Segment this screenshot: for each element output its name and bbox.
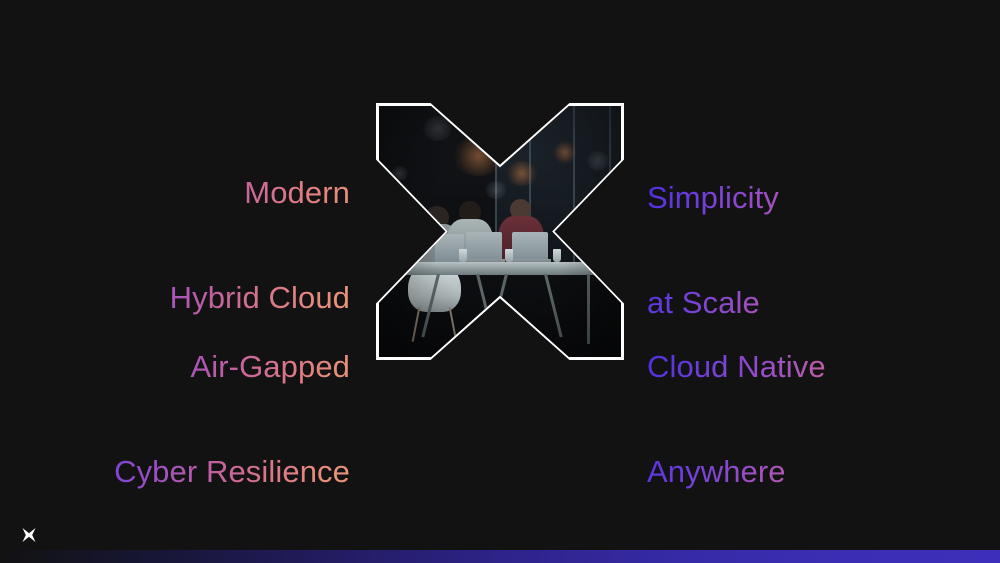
x-mark-photo-frame bbox=[376, 103, 624, 360]
close-button[interactable] bbox=[18, 524, 40, 546]
headline-cloud-native-anywhere: Cloud Native Anywhere bbox=[647, 279, 967, 559]
headline-line-2: Anywhere bbox=[647, 454, 967, 489]
photo-vignette bbox=[379, 106, 621, 357]
headline-line-1: Air-Gapped bbox=[60, 349, 350, 384]
headline-line-2: Cyber Resilience bbox=[60, 454, 350, 489]
headline-line-1: Simplicity bbox=[647, 180, 947, 215]
headline-line-1: Cloud Native bbox=[647, 349, 967, 384]
slide-canvas: Modern Hybrid Cloud Simplicity at Scale … bbox=[0, 0, 1000, 563]
close-icon bbox=[18, 524, 40, 546]
progress-accent-bar[interactable] bbox=[0, 550, 1000, 563]
headline-line-1: Modern bbox=[60, 175, 350, 210]
headline-air-gapped-cyber-resilience: Air-Gapped Cyber Resilience bbox=[60, 279, 350, 559]
x-mark-photo bbox=[379, 106, 621, 357]
